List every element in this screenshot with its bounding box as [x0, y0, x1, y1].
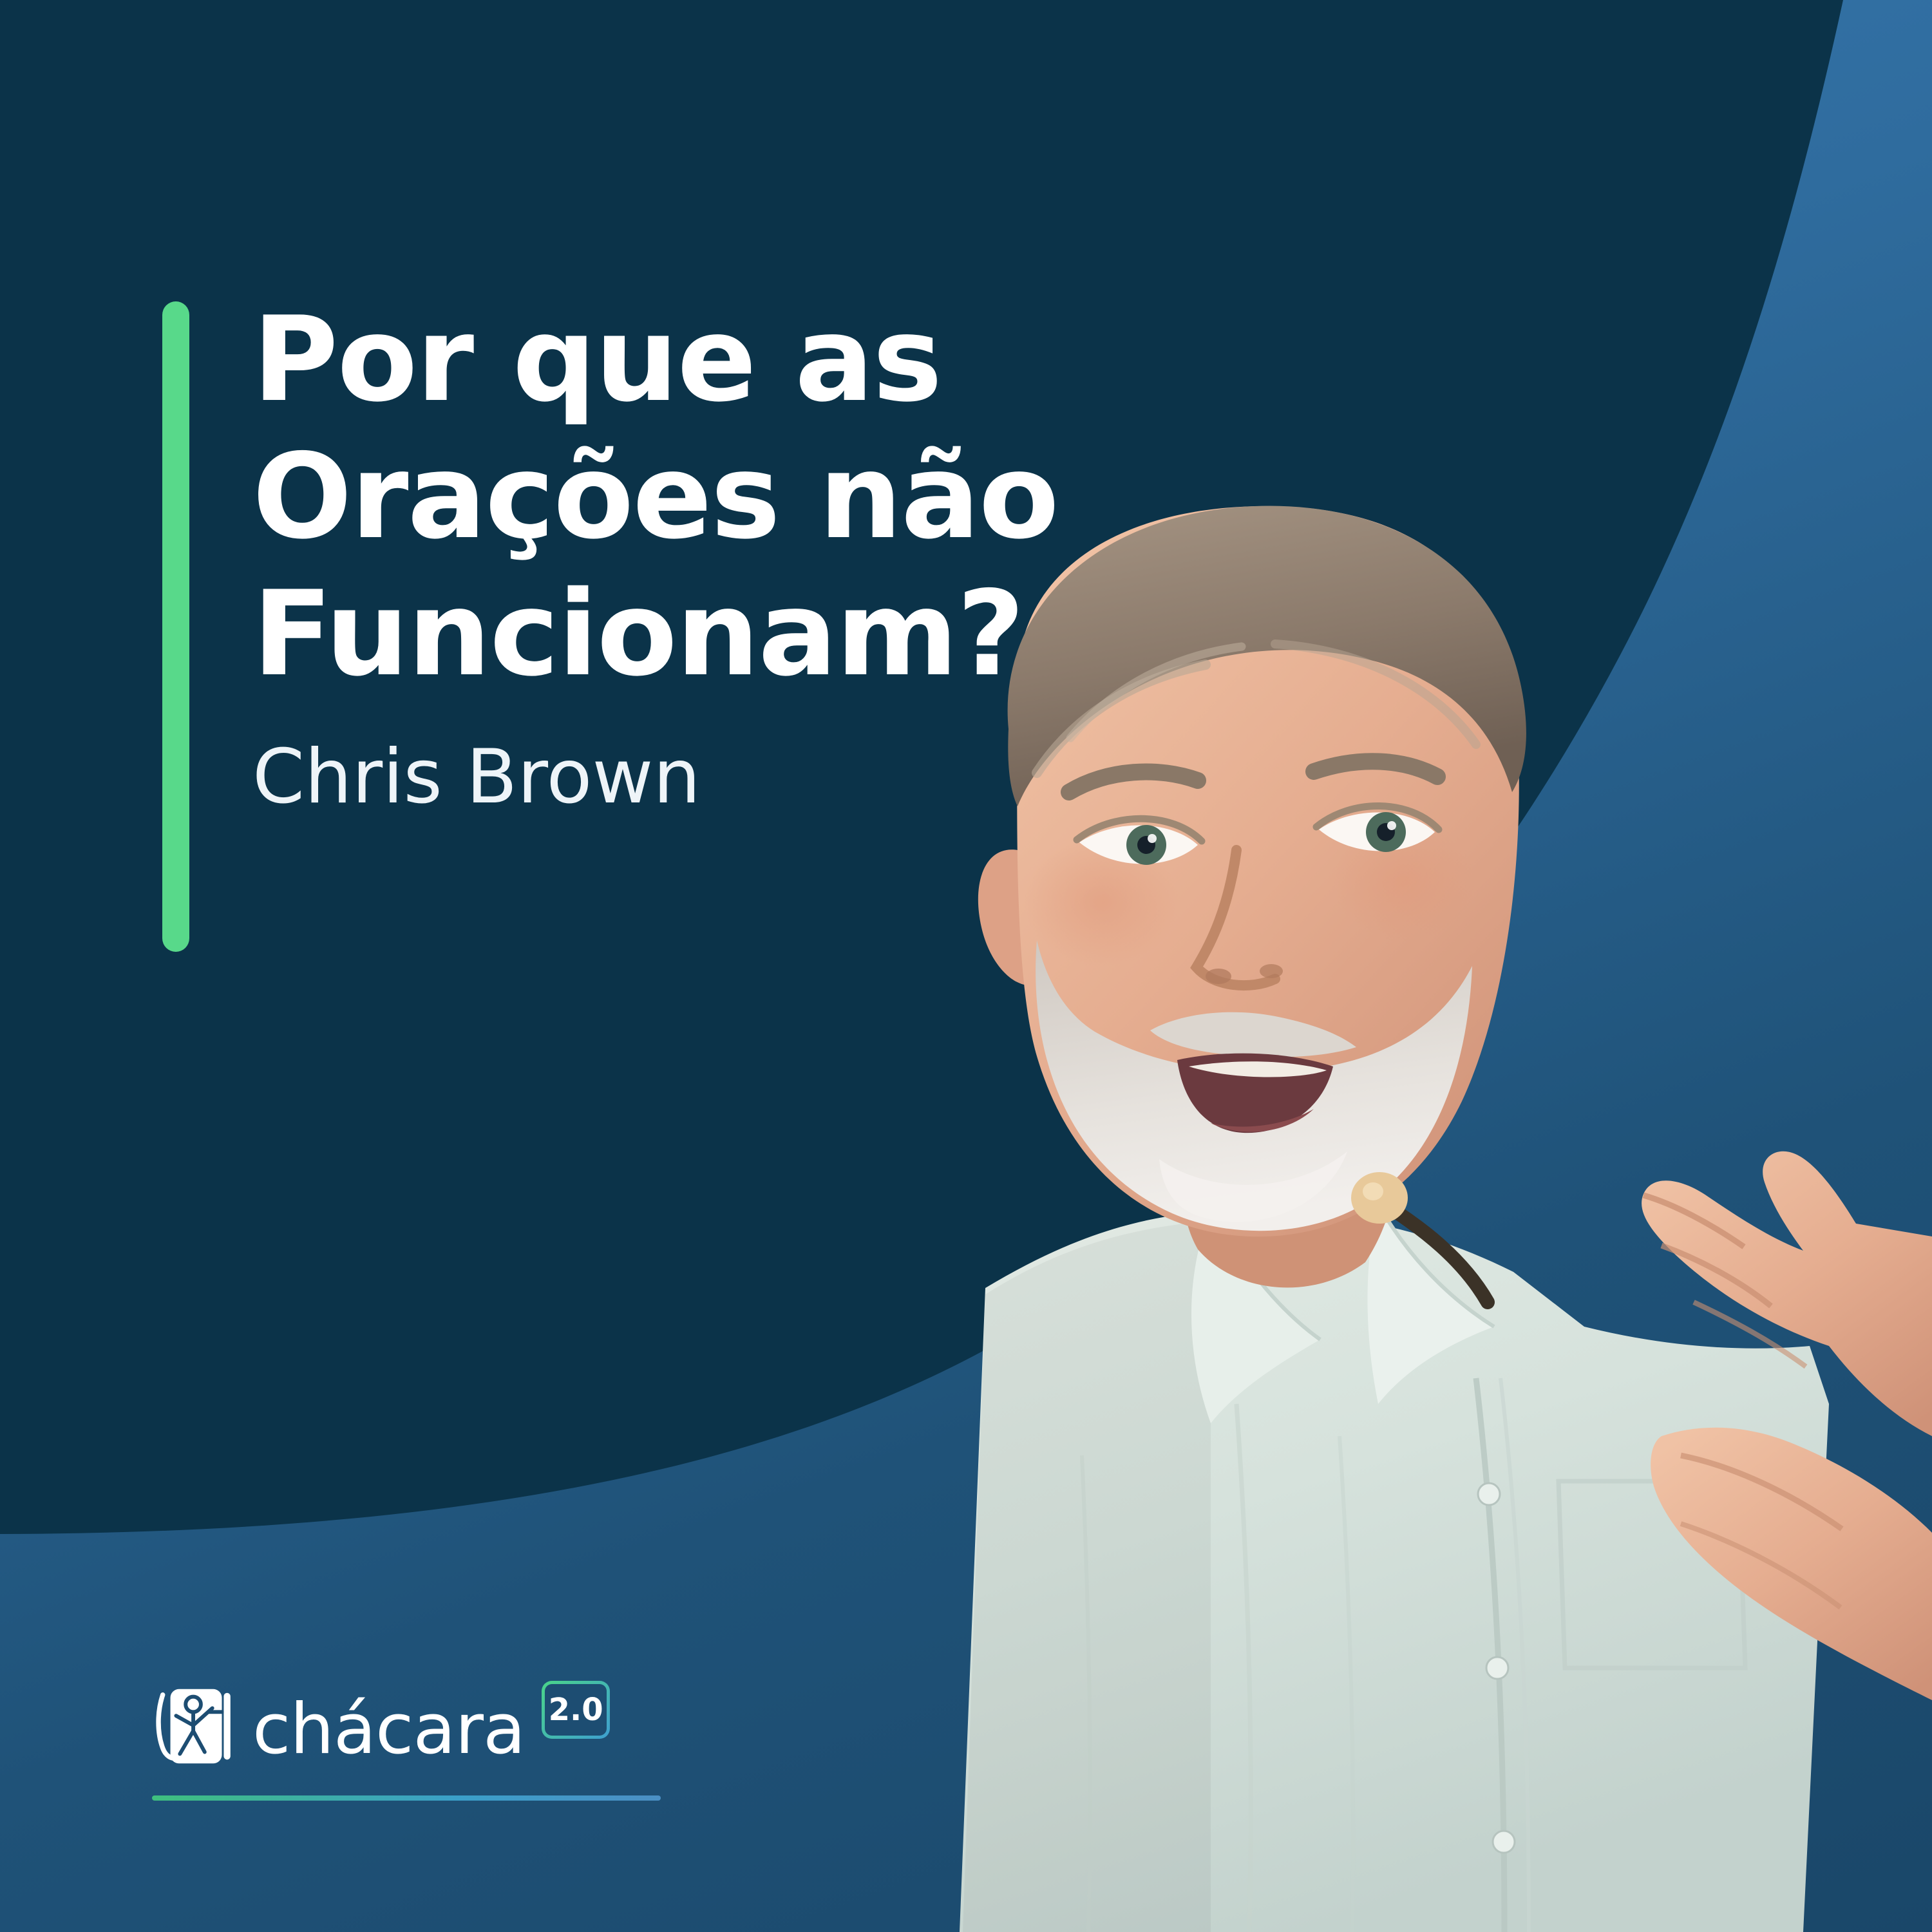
episode-title: Por que as Orações não Funcionam?	[252, 291, 1270, 703]
episode-author: Chris Brown	[252, 703, 1270, 819]
chacara-logo-mark	[149, 1680, 245, 1775]
brand-wordmark: chácara	[252, 1695, 525, 1765]
version-badge-label: 2.0	[549, 1694, 603, 1725]
green-accent-bar	[162, 301, 189, 952]
brand-logo[interactable]: chácara 2.0	[149, 1682, 610, 1777]
podcast-cover: Por que as Orações não Funcionam? Chris …	[0, 0, 1932, 1932]
logo-underline	[152, 1795, 661, 1801]
version-badge: 2.0	[542, 1681, 610, 1739]
title-block: Por que as Orações não Funcionam? Chris …	[252, 291, 1270, 818]
